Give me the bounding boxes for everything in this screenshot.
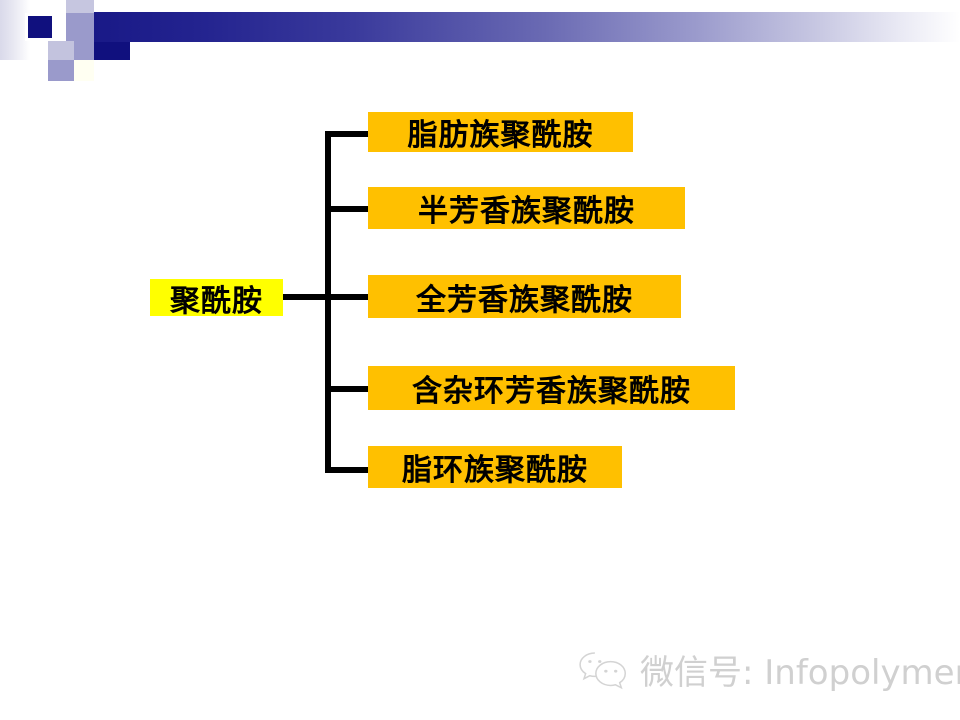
- connector-branch-4: [325, 386, 373, 392]
- diagram-root-label: 聚酰胺: [170, 276, 263, 320]
- connector-branch-1: [325, 131, 373, 137]
- mosaic-square-lavender-low: [48, 60, 74, 81]
- mosaic-square-lavender-top: [66, 13, 94, 41]
- diagram-branch-label-4: 含杂环芳香族聚酰胺: [412, 366, 691, 410]
- diagram-branch-node-4: 含杂环芳香族聚酰胺: [368, 366, 735, 410]
- mosaic-square-navy-right: [94, 41, 130, 60]
- connector-root-stub: [283, 294, 331, 300]
- diagram-root-node: 聚酰胺: [150, 279, 283, 316]
- mosaic-square-light-mid: [48, 41, 74, 60]
- diagram-branch-label-3: 全芳香族聚酰胺: [416, 275, 633, 319]
- mosaic-square-light-top: [66, 0, 94, 13]
- diagram-branch-label-1: 脂肪族聚酰胺: [408, 110, 594, 154]
- diagram-branch-label-2: 半芳香族聚酰胺: [418, 186, 635, 230]
- connector-vertical-trunk: [325, 131, 331, 473]
- watermark-text: 微信号: Infopolymer: [640, 645, 960, 694]
- wechat-icon: [576, 649, 630, 691]
- connector-branch-2: [325, 206, 373, 212]
- connector-branch-5: [325, 467, 373, 473]
- banner-gradient-bar: [94, 12, 960, 42]
- mosaic-square-cream: [74, 60, 94, 81]
- diagram-branch-node-1: 脂肪族聚酰胺: [368, 112, 633, 152]
- slide-canvas: 聚酰胺 脂肪族聚酰胺 半芳香族聚酰胺 全芳香族聚酰胺 含杂环芳香族聚酰胺 脂环族…: [0, 0, 960, 720]
- connector-branch-3: [325, 294, 373, 300]
- watermark: 微信号: Infopolymer: [576, 645, 960, 694]
- diagram-branch-label-5: 脂环族聚酰胺: [402, 445, 588, 489]
- diagram-branch-node-3: 全芳香族聚酰胺: [368, 275, 681, 318]
- mosaic-square-lavender-mid: [74, 41, 94, 60]
- diagram-branch-node-5: 脂环族聚酰胺: [368, 446, 622, 488]
- diagram-branch-node-2: 半芳香族聚酰胺: [368, 187, 685, 229]
- mosaic-square-navy-outlined: [25, 13, 55, 41]
